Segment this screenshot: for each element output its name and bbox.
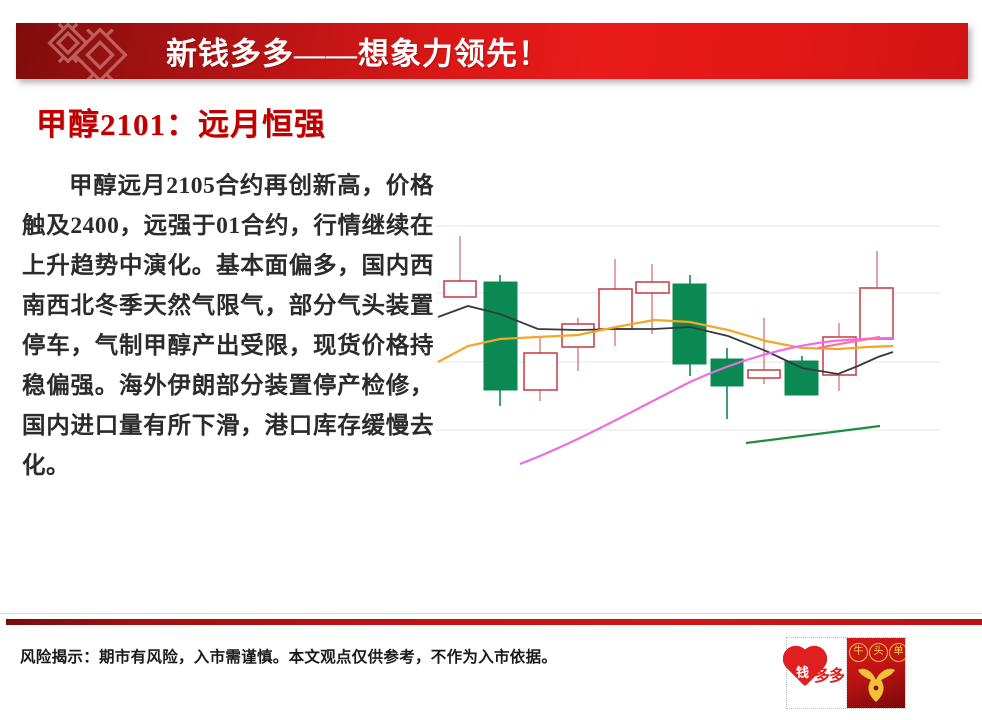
logo-brand-text: 多多 <box>814 662 844 686</box>
logo-heart-text: 钱 <box>796 662 809 681</box>
footer-divider-thin <box>0 613 982 614</box>
candle-1 <box>444 236 476 297</box>
header-title: 新钱多多——想象力领先！ <box>166 29 550 74</box>
candle-7 <box>673 275 706 376</box>
candle-3 <box>524 336 557 401</box>
logo-brand-right: 牛 头 单 <box>847 638 905 708</box>
bull-head-icon <box>855 662 897 704</box>
body-paragraph: 甲醇远月2105合约再创新高，价格触及2400，远强于01合约，行情继续在上升趋… <box>22 166 434 486</box>
candle-8 <box>711 348 743 419</box>
footer-logo: 钱 多多 牛 头 单 <box>786 637 906 709</box>
chinese-knot-emblem-icon <box>30 23 150 79</box>
logo-chip-3: 单 <box>889 643 905 662</box>
header-banner: 新钱多多——想象力领先！ <box>16 23 968 79</box>
candle-4 <box>562 318 594 371</box>
logo-brand-left: 钱 多多 <box>787 638 847 708</box>
candle-5 <box>599 259 632 346</box>
candle-12 <box>860 251 893 339</box>
footer-divider-red <box>6 619 982 625</box>
page-title: 甲醇2101：远月恒强 <box>36 99 326 144</box>
risk-disclaimer: 风险揭示：期市有风险，入市需谨慎。本文观点仅供参考，不作为入市依据。 <box>20 645 557 667</box>
logo-chip-1: 牛 <box>849 643 868 662</box>
candle-11 <box>823 323 856 391</box>
logo-chip-row: 牛 头 单 <box>849 643 905 662</box>
logo-chip-2: 头 <box>869 643 888 662</box>
trendline-green <box>746 426 880 443</box>
chart-canvas <box>428 196 968 486</box>
candlestick-chart <box>428 196 968 486</box>
